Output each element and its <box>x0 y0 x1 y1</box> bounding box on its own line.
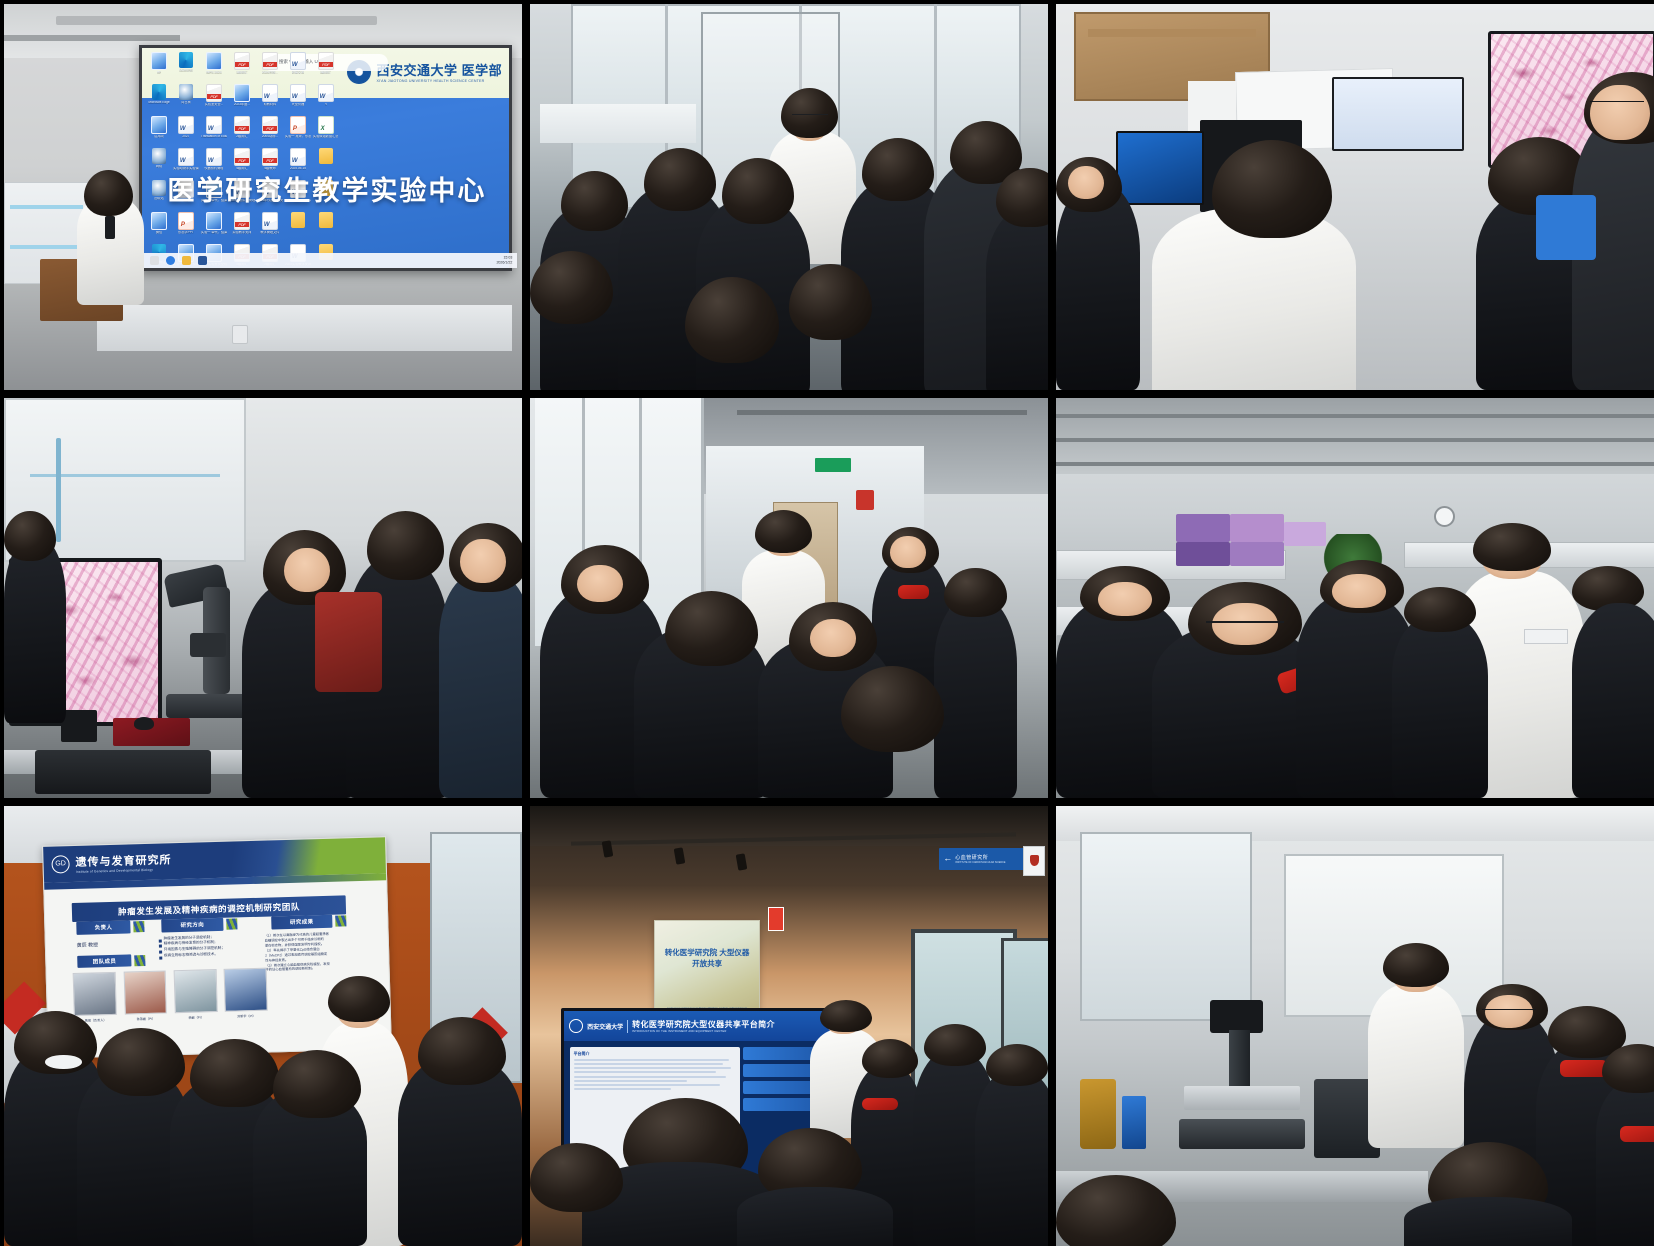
direction-sign-en: INSTITUTE OF CARDIOVASCULAR SCIENCE <box>955 861 1005 864</box>
desktop-icon-label: 实验教学安排 <box>232 231 251 234</box>
desktop-icon-label: 实验原始数据汇总 <box>313 135 339 138</box>
xls-icon <box>318 116 334 134</box>
desktop-icon-label: 新建文本 <box>292 71 305 74</box>
desktop-icon-label: OCR识别 <box>179 69 192 72</box>
desktop-icon-label: 微信 <box>156 231 162 234</box>
desktop-icon-17[interactable]: 2级用汇 <box>229 116 255 147</box>
desktop-icon-41[interactable] <box>313 212 339 243</box>
desktop-icon-label: 2级用汇 <box>236 135 247 138</box>
img-icon <box>206 52 222 70</box>
tag-leader: 负责人 <box>76 921 131 935</box>
desktop-icon-label: Translation of Eukary... <box>201 135 227 138</box>
panel-corridor-briefing <box>530 398 1048 798</box>
desktop-icon-label: 启用项 <box>154 135 164 138</box>
hair-tie <box>45 1055 81 1069</box>
direction-sign: ← 心血管研究所 INSTITUTE OF CARDIOVASCULAR SCI… <box>939 848 1032 870</box>
fold-icon <box>319 212 333 228</box>
rec-icon <box>152 148 166 164</box>
desktop-icon-label: 2023 <box>182 135 189 138</box>
fold-icon <box>319 148 333 164</box>
panel-equipment-centre-screen: ← 心血管研究所 INSTITUTE OF CARDIOVASCULAR SCI… <box>530 806 1048 1246</box>
panel-open-plan-laboratory <box>1056 398 1654 798</box>
people <box>1056 973 1654 1246</box>
poster-research-results: （1）首次在以高脂症为代表的儿童超重患者血糖调控中表达出多个可用于临床诊断的潜在… <box>265 931 369 973</box>
desktop-icon-label: 实验室安全... <box>205 103 224 106</box>
whiteboard <box>97 305 511 351</box>
doc-icon <box>178 116 194 134</box>
img-icon <box>234 84 250 102</box>
extinguisher-icon <box>1030 855 1039 866</box>
edge-icon <box>152 84 166 100</box>
desktop-icon-label: 助教材料 <box>264 103 277 106</box>
desktop-icon-label: 2023年度... <box>234 103 250 106</box>
img-icon <box>206 212 222 230</box>
desktop-icon-10[interactable]: 2023年度... <box>229 84 255 115</box>
img-icon <box>151 116 167 134</box>
doc-icon <box>290 148 306 166</box>
people <box>4 486 522 798</box>
desktop-icon-14[interactable]: 启用项 <box>147 116 171 147</box>
ppt-icon <box>290 116 306 134</box>
desktop-icon-1[interactable]: OCR识别 <box>173 52 199 83</box>
desktop-icon-35[interactable]: 微信 <box>147 212 171 243</box>
research-direction-3: 疾病生物标志物筛选与诊断技术。 <box>159 951 251 959</box>
taskbar-clock: 15:03 2026/1/22 <box>496 256 512 265</box>
desktop-icon-36[interactable]: 形态学PPT <box>173 212 199 243</box>
desktop-icon-label: Microsoft Edge <box>148 101 169 104</box>
desktop-icon-label: 向日葵 <box>181 101 191 104</box>
desktop-icon-20[interactable]: 实验原始数据汇总 <box>313 116 339 147</box>
desktop-icon-11[interactable]: 助教材料 <box>257 84 283 115</box>
microphone <box>105 216 115 239</box>
blue-jacket <box>1536 195 1596 260</box>
desktop-icon-9[interactable]: 实验室安全... <box>201 84 227 115</box>
photo-collage: 西安交通大学 医学部 XI'AN JIAOTONG UNIVERSITY HEA… <box>0 0 1654 1245</box>
desktop-icon-18[interactable]: 2004动物... <box>257 116 283 147</box>
desktop-icon-4[interactable]: 2024开放... <box>257 52 283 83</box>
arrow-left-icon: ← <box>943 854 952 863</box>
panel-lecture-hall-presentation: 西安交通大学 医学部 XI'AN JIAOTONG UNIVERSITY HEA… <box>4 4 522 390</box>
desktop-icon-3[interactable]: 1级用汇 <box>229 52 255 83</box>
pdf-icon <box>262 148 278 166</box>
desktop-icon-label: 1级用汇 <box>236 71 247 74</box>
fire-alarm-icon <box>768 907 783 931</box>
panel-microscope-workstation <box>4 398 522 798</box>
tag-results: 研究成果 <box>271 915 333 929</box>
poster-research-directions: 肿瘤发生发展的分子调控机制；精神疾病与神经发育的分子机制；环境因素与生殖障碍的分… <box>159 934 252 959</box>
poster-leader-name: 黄辰 教授 <box>77 942 99 950</box>
eyeglasses-icon <box>792 114 828 122</box>
doc-icon <box>290 84 306 102</box>
rec-icon <box>152 180 166 196</box>
eyeglasses-icon <box>1206 621 1284 631</box>
fold-icon <box>291 212 305 228</box>
people <box>1056 534 1654 798</box>
desktop-icon-label: 实验一 单代、结果、组... <box>201 231 227 234</box>
eyeglasses-icon <box>1590 101 1644 108</box>
pdf-icon <box>262 116 278 134</box>
desktop-icon-label: 2004动物... <box>262 135 278 138</box>
desktop-icon-7[interactable]: Microsoft Edge <box>147 84 171 115</box>
wall-plaque-cn: 转化医学研究院 大型仪器开放共享 <box>664 947 751 970</box>
desktop-icon-40[interactable] <box>285 212 311 243</box>
wall-outlet <box>232 325 248 344</box>
img-icon <box>151 212 167 230</box>
pdf-icon <box>234 116 250 134</box>
institute-emblem-icon: GD <box>52 855 70 873</box>
panel-research-institute-poster: 福 GD 遗传与发育研究所 Institute of Genetics and … <box>4 806 522 1246</box>
desktop-icon-6[interactable]: 3级用汇 <box>313 52 339 83</box>
desktop-icon-39[interactable]: 教学管理文件 <box>257 212 283 243</box>
student-crowd <box>530 58 1048 390</box>
desktop-icon-label: 形态学PPT <box>178 231 194 234</box>
doc-icon <box>290 52 306 70</box>
desktop-icon-label: HP <box>157 71 161 74</box>
people <box>1056 66 1654 390</box>
desktop-icon-19[interactable]: 实验一 常规、形态... <box>285 116 311 147</box>
desktop-icon-label: 3级用汇 <box>320 71 331 74</box>
img-icon <box>151 52 167 70</box>
desktop-icon-16[interactable]: Translation of Eukary... <box>201 116 227 147</box>
rec-icon <box>179 84 193 100</box>
people <box>4 973 522 1246</box>
pdf-icon <box>234 52 250 70</box>
desktop-icon-2[interactable]: WPS 2023 <box>201 52 227 83</box>
tag-members: 团队成员 <box>77 954 132 968</box>
desktop-icon-label: WPS 2023 <box>206 71 221 74</box>
wall-notice <box>856 490 874 510</box>
pdf-icon <box>234 212 250 230</box>
doc-icon <box>262 212 278 230</box>
presenter-coat <box>1368 984 1464 1148</box>
desktop-icon-label: 回收站 <box>154 197 164 200</box>
desktop-icon-8[interactable]: 向日葵 <box>173 84 199 115</box>
ppt-icon <box>178 212 194 230</box>
wall-clock-icon <box>1434 506 1455 527</box>
pdf-icon <box>318 52 334 70</box>
panel-students-crowd-glass-lab <box>530 4 1048 390</box>
fire-extinguisher-sign <box>1023 846 1046 877</box>
direction-sign-cn: 心血管研究所 <box>955 854 1005 861</box>
desktop-icon-12[interactable]: 大型仪器 <box>285 84 311 115</box>
projection-screen: 西安交通大学 医学部 XI'AN JIAOTONG UNIVERSITY HEA… <box>139 45 513 271</box>
doc-icon <box>318 84 334 102</box>
panel-histology-laptop-demo <box>1056 4 1654 390</box>
backpack <box>315 592 382 692</box>
pdf-icon <box>234 148 250 166</box>
eyeglasses-icon <box>1482 1009 1536 1015</box>
panel-instrument-demonstration <box>1056 806 1654 1246</box>
desktop-icon-label: R <box>325 103 327 106</box>
doc-icon <box>178 148 194 166</box>
pdf-icon <box>206 84 222 102</box>
desktop-icon-label: 网络 <box>156 165 162 168</box>
desktop-icon-0[interactable]: HP <box>147 52 171 83</box>
desktop-icon-label: 实验一 常规、形态... <box>285 135 311 138</box>
doc-icon <box>206 148 222 166</box>
people <box>530 1000 1048 1246</box>
desktop-icon-13[interactable]: R <box>313 84 339 115</box>
desktop-icon-label: 教学管理文件 <box>260 231 279 234</box>
tag-direction: 研究方向 <box>162 918 224 932</box>
exit-sign <box>815 458 851 472</box>
desktop-icon-37[interactable]: 实验一 单代、结果、组... <box>201 212 227 243</box>
desktop-icon-38[interactable]: 实验教学安排 <box>229 212 255 243</box>
desktop-icon-15[interactable]: 2023 <box>173 116 199 147</box>
doc-icon <box>262 84 278 102</box>
doc-icon <box>206 116 222 134</box>
university-name-en: XI'AN JIAOTONG UNIVERSITY HEALTH SCIENCE… <box>376 79 502 83</box>
slide-title: 医学研究生教学实验中心 <box>167 169 498 208</box>
desktop-icon-5[interactable]: 新建文本 <box>285 52 311 83</box>
pdf-icon <box>262 52 278 70</box>
desktop-icon-grid: HPOCR识别WPS 20231级用汇2024开放...新建文本3级用汇Micr… <box>147 52 338 246</box>
edge-icon <box>179 52 193 68</box>
name-badge <box>1524 629 1568 644</box>
university-name-cn: 西安交通大学 医学部 <box>376 60 502 79</box>
people <box>530 510 1048 798</box>
taskbar[interactable]: 15:03 2026/1/22 <box>142 253 518 267</box>
institute-name-cn: 遗传与发育研究所 <box>76 851 172 870</box>
desktop-icon-label: 大型仪器 <box>292 103 305 106</box>
desktop-icon-label: 2024开放... <box>262 71 278 74</box>
